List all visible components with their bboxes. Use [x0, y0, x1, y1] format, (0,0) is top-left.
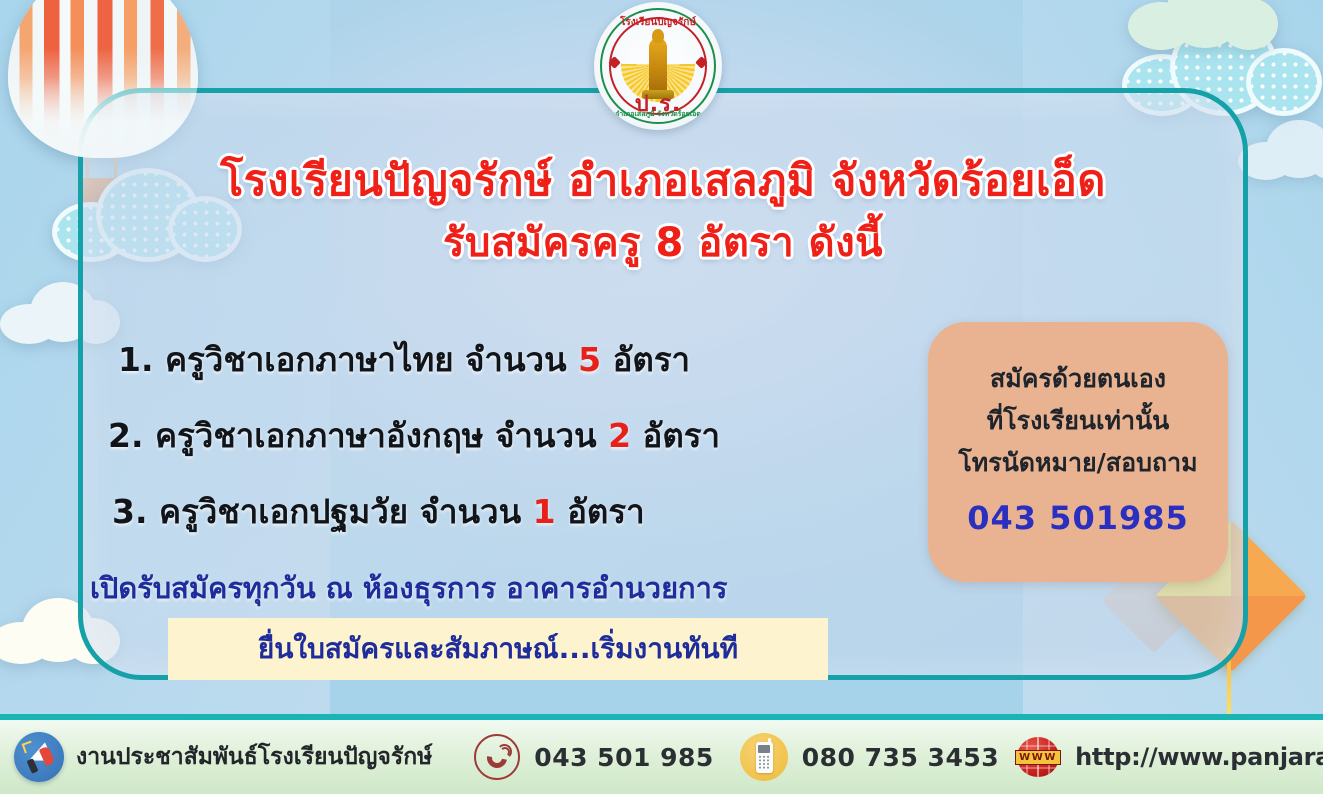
- position-index: 2.: [108, 416, 144, 455]
- list-item: 2. ครูวิชาเอกภาษาอังกฤษ จำนวน 2 อัตรา: [108, 398, 938, 474]
- mobile-keypad: [758, 755, 770, 769]
- contact-line-1: สมัครด้วยตนเอง: [990, 358, 1166, 400]
- position-count-label: จำนวน: [465, 340, 567, 379]
- position-index: 1.: [118, 340, 154, 379]
- footer-org: งานประชาสัมพันธ์โรงเรียนปัญจรักษ์: [14, 732, 432, 782]
- position-subject: ครูวิชาเอกปฐมวัย: [159, 492, 408, 531]
- position-count: 5: [578, 340, 601, 379]
- contact-card: สมัครด้วยตนเอง ที่โรงเรียนเท่านั้น โทรนั…: [928, 322, 1228, 582]
- position-subject: ครูวิชาเอกภาษาอังกฤษ: [155, 416, 484, 455]
- footer-mobile-number[interactable]: 080 735 3453: [802, 743, 999, 772]
- headline-block: โรงเรียนปัญจรักษ์ อำเภอเสลภูมิ จังหวัดร้…: [78, 150, 1248, 274]
- footer-bar: งานประชาสัมพันธ์โรงเรียนปัญจรักษ์ 043 50…: [0, 720, 1323, 794]
- headline-line-2: รับสมัครครู 8 อัตรา ดังนี้: [78, 212, 1248, 274]
- position-list: 1. ครูวิชาเอกภาษาไทย จำนวน 5 อัตรา 2. คร…: [108, 322, 938, 550]
- www-badge: WWW: [1015, 750, 1061, 765]
- application-location-note: เปิดรับสมัครทุกวัน ณ ห้องธุรการ อาคารอำน…: [90, 566, 970, 610]
- telephone-wave: [497, 744, 512, 759]
- position-unit: อัตรา: [643, 416, 721, 455]
- footer-website[interactable]: WWW http://www.panjarak.ac.th: [1015, 737, 1323, 777]
- mobile-phone-icon: [740, 733, 788, 781]
- mobile-body: [756, 742, 773, 773]
- highlight-banner: ยื่นใบสมัครและสัมภาษณ์...เริ่มงานทันที: [168, 618, 828, 680]
- telephone-icon: [474, 734, 520, 780]
- list-item: 3. ครูวิชาเอกปฐมวัย จำนวน 1 อัตรา: [108, 474, 938, 550]
- cloud-decoration: [1238, 120, 1323, 180]
- position-unit: อัตรา: [613, 340, 691, 379]
- position-subject: ครูวิชาเอกภาษาไทย: [165, 340, 454, 379]
- cloud-decoration: [1128, 0, 1278, 50]
- www-globe-icon: WWW: [1015, 737, 1061, 777]
- position-index: 3.: [112, 492, 148, 531]
- highlight-text: ยื่นใบสมัครและสัมภาษณ์...เริ่มงานทันที: [258, 627, 738, 671]
- school-logo: โรงเรียนปัญจรักษ์ ป.ร. อำเภอเสลภูมิ จังห…: [594, 2, 722, 130]
- headline-line-1: โรงเรียนปัญจรักษ์ อำเภอเสลภูมิ จังหวัดร้…: [78, 150, 1248, 212]
- position-count: 2: [608, 416, 631, 455]
- recruitment-poster: โรงเรียนปัญจรักษ์ ป.ร. อำเภอเสลภูมิ จังห…: [0, 0, 1323, 794]
- logo-district-name: อำเภอเสลภูมิ จังหวัดร้อยเอ็ด: [594, 109, 722, 120]
- position-count-label: จำนวน: [420, 492, 522, 531]
- logo-buddha-icon: [649, 38, 667, 92]
- footer-telephone[interactable]: 043 501 985: [474, 734, 713, 780]
- balloon-envelope-icon: [8, 0, 198, 158]
- position-unit: อัตรา: [567, 492, 645, 531]
- mobile-screen: [758, 745, 770, 753]
- logo-school-name: โรงเรียนปัญจรักษ์: [594, 15, 722, 30]
- footer-phone-number[interactable]: 043 501 985: [534, 743, 713, 772]
- contact-line-3: โทรนัดหมาย/สอบถาม: [958, 442, 1197, 484]
- footer-website-url[interactable]: http://www.panjarak.ac.th: [1075, 743, 1323, 771]
- contact-line-2: ที่โรงเรียนเท่านั้น: [987, 400, 1170, 442]
- contact-phone-number[interactable]: 043 501985: [967, 490, 1189, 546]
- megaphone-icon: [14, 732, 64, 782]
- list-item: 1. ครูวิชาเอกภาษาไทย จำนวน 5 อัตรา: [108, 322, 938, 398]
- footer-org-label: งานประชาสัมพันธ์โรงเรียนปัญจรักษ์: [76, 739, 432, 775]
- footer-contact-row: งานประชาสัมพันธ์โรงเรียนปัญจรักษ์ 043 50…: [0, 720, 1323, 794]
- position-count: 1: [533, 492, 556, 531]
- position-count-label: จำนวน: [495, 416, 597, 455]
- footer-mobile[interactable]: 080 735 3453: [740, 733, 999, 781]
